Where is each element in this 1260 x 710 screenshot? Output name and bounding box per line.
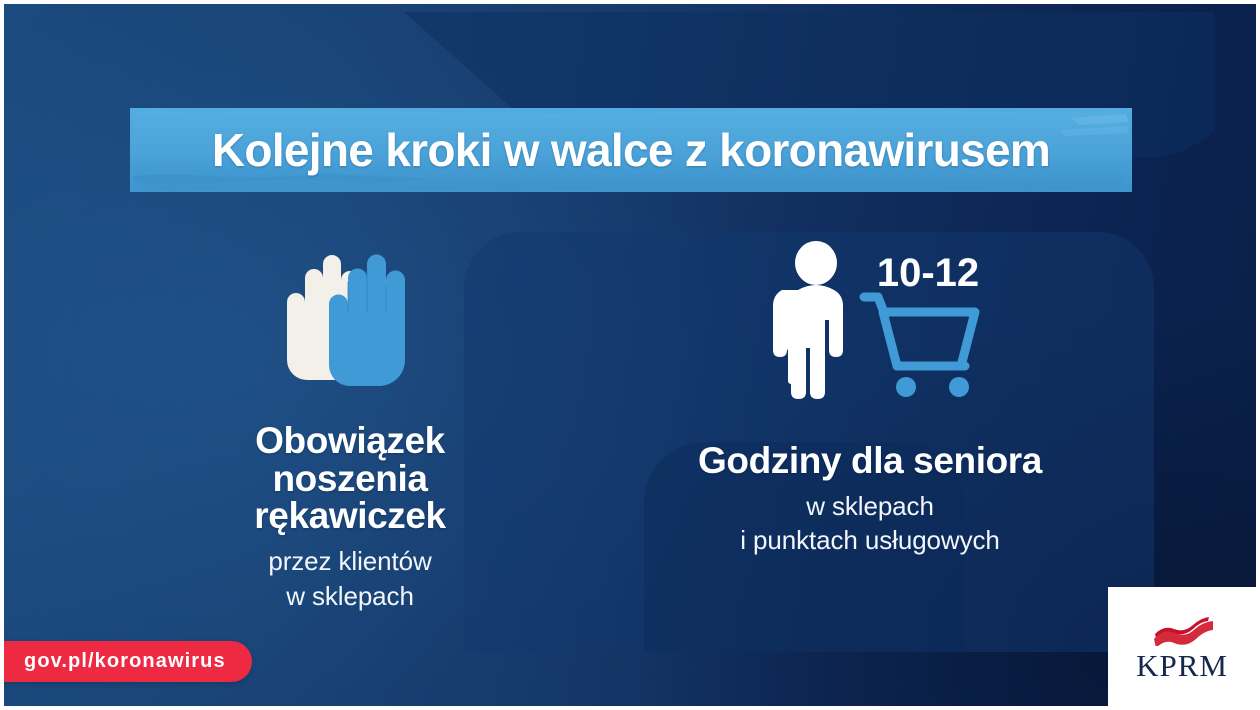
senior-with-cart-icon: 10-12: [750, 236, 990, 408]
gloves-subtext-line-2: w sklepach: [268, 579, 431, 613]
senior-headline-line-1: Godziny dla seniora: [698, 442, 1042, 480]
gov-url-badge[interactable]: gov.pl/koronawirus: [0, 641, 252, 682]
shopping-cart-icon: [864, 297, 975, 366]
gloves-icon: [257, 238, 443, 398]
poster-title: Kolejne kroki w walce z koronawirusem: [130, 108, 1132, 192]
senior-subtext-line-1: w sklepach: [740, 489, 1000, 523]
gloves-icon-wrap: [257, 238, 443, 398]
senior-subtext-line-2: i punktach usługowych: [740, 523, 1000, 557]
senior-cart-icon-wrap: 10-12: [750, 236, 990, 408]
kprm-logo: KPRM: [1108, 587, 1256, 706]
senior-hours-label: 10-12: [877, 251, 979, 295]
kprm-wordmark: KPRM: [1136, 650, 1228, 681]
senior-subtext: w sklepach i punktach usługowych: [740, 489, 1000, 558]
gloves-headline-line-2: noszenia: [254, 460, 445, 498]
gloves-headline-line-1: Obowiązek: [254, 422, 445, 460]
gloves-headline: Obowiązek noszenia rękawiczek: [254, 422, 445, 535]
gloves-subtext: przez klientów w sklepach: [268, 544, 431, 613]
polish-flag-emblem-icon: [1150, 612, 1214, 646]
senior-headline: Godziny dla seniora: [698, 442, 1042, 480]
gloves-headline-line-3: rękawiczek: [254, 497, 445, 535]
title-banner: Kolejne kroki w walce z koronawirusem: [130, 108, 1132, 192]
gloves-subtext-line-1: przez klientów: [268, 544, 431, 578]
gov-url-label: gov.pl/koronawirus: [24, 650, 226, 673]
panel-gloves: Obowiązek noszenia rękawiczek przez klie…: [170, 238, 530, 613]
panel-senior-hours: 10-12 Godziny dla seniora w sklepach i p…: [640, 236, 1100, 557]
coronavirus-infographic-poster: Kolejne kroki w walce z koronawirusem: [0, 0, 1260, 710]
